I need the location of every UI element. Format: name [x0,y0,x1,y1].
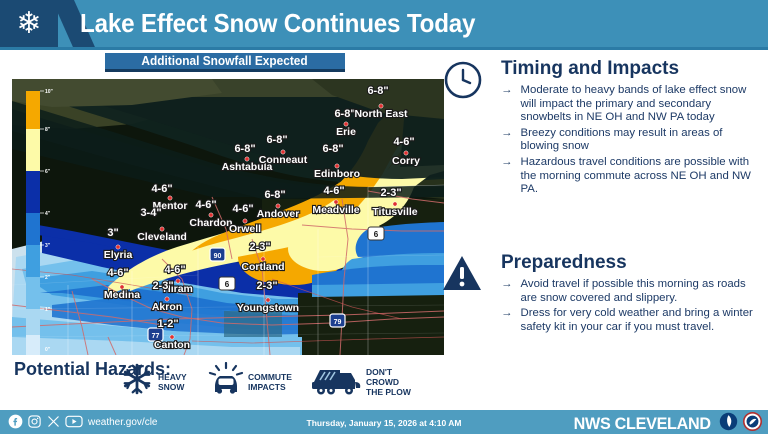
snowflake-icon: ❄ [16,9,41,39]
city-name: North East [354,108,408,120]
snowfall-amount: 6-8" [334,108,355,120]
snowfall-amount: 2-3" [249,241,270,253]
hazard-heavy-snow: HEAVY SNOW [120,362,187,401]
city-name: Cleveland [137,231,187,243]
snowfall-amount: 4-6" [151,183,172,195]
hazard-label: HEAVY SNOW [158,372,187,392]
snowfall-amount: 2-3" [152,280,173,292]
weather-graphic: ❄ Lake Effect Snow Continues Today Addit… [0,0,768,434]
list-item: → Avoid travel if possible this morning … [501,278,760,305]
snowfall-amount: 4-6" [393,136,414,148]
snowfall-amount: 4-6" [164,264,185,276]
map-banner-title: Additional Snowfall Expected [142,54,308,68]
svg-text:10": 10" [45,89,54,95]
svg-text:6: 6 [374,230,379,239]
section-heading: Preparedness [501,252,760,274]
bullet-text: Breezy conditions may result in areas of… [521,127,761,154]
city-name: Conneaut [259,154,308,166]
city-name: Chardon [189,217,232,229]
snowflake-icon [120,362,154,401]
footer-brand-text: NWS CLEVELAND [573,414,710,434]
snowfall-amount: 3" [107,227,118,239]
snowfall-amount: 2-3" [380,187,401,199]
hazard-label: DON'T CROWD THE PLOW [366,367,411,397]
hazard-label: COMMUTE IMPACTS [248,372,292,392]
list-item: → Moderate to heavy bands of lake effect… [501,84,760,125]
page-title: Lake Effect Snow Continues Today [80,8,475,39]
bullet-text: Avoid travel if possible this morning as… [521,278,761,305]
city-name: Cortland [241,261,284,273]
header-bar: ❄ Lake Effect Snow Continues Today [0,0,768,47]
nws-logo [743,412,762,434]
snowfall-amount: 6-8" [367,85,388,97]
arrow-icon: → [501,156,513,197]
svg-text:6": 6" [45,169,51,175]
city-name: Titusville [372,206,417,218]
snowfall-map[interactable]: 10" 8" 6" 4" 3" 2" 1" 0" 90 [12,79,444,355]
section-heading: Timing and Impacts [501,58,760,80]
svg-text:8": 8" [45,127,51,133]
city-name: Youngstown [237,302,299,314]
city-name: Andover [257,208,300,220]
city-name: Orwell [229,223,261,235]
hazard-commute-impacts: COMMUTE IMPACTS [208,362,292,401]
arrow-icon: → [501,278,513,305]
bullet-text: Dress for very cold weather and bring a … [521,307,761,334]
list-item: → Breezy conditions may result in areas … [501,127,760,154]
map-banner: Additional Snowfall Expected [105,53,345,72]
snowfall-amount: 6-8" [234,143,255,155]
bullet-text: Moderate to heavy bands of lake effect s… [521,84,761,125]
bullet-list: → Avoid travel if possible this morning … [501,278,760,334]
header-underline [0,47,768,50]
hazard-dont-crowd-plow: DON'T CROWD THE PLOW [310,362,411,401]
svg-text:6: 6 [225,280,230,289]
svg-text:79: 79 [334,319,342,326]
arrow-icon: → [501,127,513,154]
city-name: Elyria [104,249,133,261]
snowfall-amount: 2-3" [256,280,277,292]
svg-text:2": 2" [45,275,51,281]
snowfall-amount: 4-6" [107,267,128,279]
svg-text:1": 1" [45,307,51,313]
city-name: Meadville [312,204,359,216]
noaa-logo [719,412,738,434]
list-item: → Hazardous travel conditions are possib… [501,156,760,197]
footer-branding: NWS CLEVELAND [570,412,762,434]
svg-text:90: 90 [214,253,222,260]
snowfall-amount: 4-6" [232,203,253,215]
warning-triangle-icon [455,252,485,301]
snowfall-amount: 4-6" [195,199,216,211]
snowfall-amount: 6-8" [266,134,287,146]
potential-hazards-bar: Potential Hazards: [0,356,452,410]
plow-truck-icon [310,362,362,401]
list-item: → Dress for very cold weather and bring … [501,307,760,334]
city-name: Edinboro [314,168,360,180]
city-name: Medina [104,289,140,301]
section-preparedness: Preparedness → Avoid travel if possible … [455,252,760,336]
snowfall-amount: 1-2" [157,318,178,330]
city-name: Canton [154,339,190,351]
snowfall-amount: 6-8" [322,143,343,155]
snowfall-amount: 6-8" [264,189,285,201]
clock-icon [455,58,485,107]
footer-bar: weather.gov/cle Thursday, January 15, 20… [0,410,768,434]
arrow-icon: → [501,84,513,125]
city-name: Akron [152,301,182,313]
city-name: Corry [392,155,420,167]
city-name: Erie [336,126,356,138]
bullet-text: Hazardous travel conditions are possible… [521,156,761,197]
snowfall-amount: 3-4" [140,207,161,219]
svg-text:3": 3" [45,243,51,249]
arrow-icon: → [501,307,513,334]
car-icon [208,362,244,401]
bullet-list: → Moderate to heavy bands of lake effect… [501,84,760,197]
svg-text:4": 4" [45,211,51,217]
snowfall-amount: 4-6" [323,185,344,197]
header-snowflake-badge: ❄ [0,0,58,47]
section-timing-and-impacts: Timing and Impacts → Moderate to heavy b… [455,58,760,199]
svg-text:0": 0" [45,347,51,353]
